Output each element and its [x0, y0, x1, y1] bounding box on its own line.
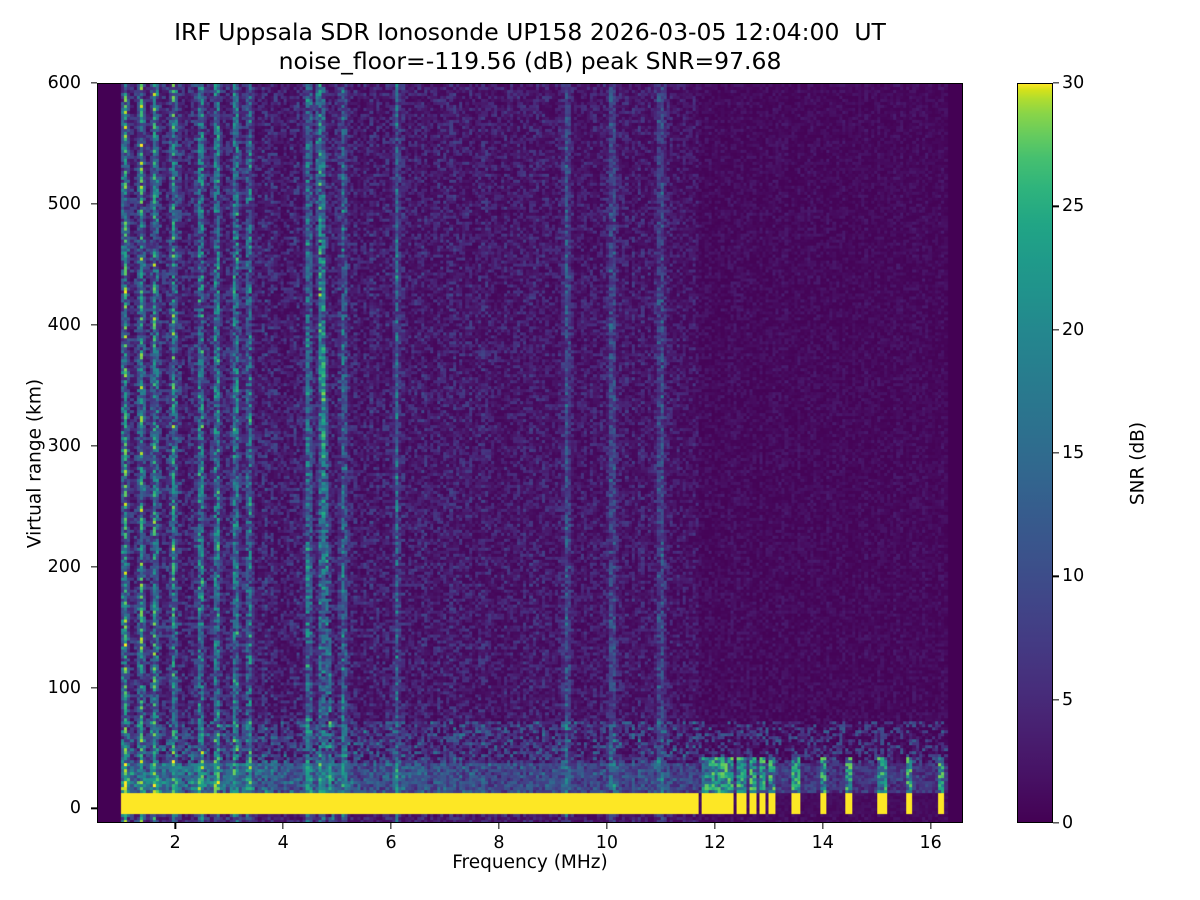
y-tick-mark: [91, 203, 97, 204]
x-tick-label: 2: [145, 833, 205, 853]
colorbar-tick-mark: [1053, 822, 1059, 823]
y-tick-mark: [91, 566, 97, 567]
x-tick-label: 8: [469, 833, 529, 853]
colorbar-tick-label: 30: [1062, 73, 1084, 93]
x-tick-mark: [390, 823, 391, 829]
y-tick-mark: [91, 808, 97, 809]
colorbar-tick-mark: [1053, 699, 1059, 700]
figure-title: IRF Uppsala SDR Ionosonde UP158 2026-03-…: [0, 18, 1060, 75]
colorbar-tick-mark: [1053, 206, 1059, 207]
snr-colorbar: [1017, 83, 1053, 823]
x-tick-label: 6: [361, 833, 421, 853]
colorbar-label: SNR (dB): [1128, 304, 1149, 624]
colorbar-tick-mark: [1053, 82, 1059, 83]
y-tick-mark: [91, 324, 97, 325]
x-tick-label: 10: [577, 833, 637, 853]
y-tick-label: 600: [1, 73, 81, 93]
x-tick-mark: [175, 823, 176, 829]
ionogram-plot-area: [97, 83, 963, 823]
y-tick-mark: [91, 687, 97, 688]
colorbar-tick-mark: [1053, 329, 1059, 330]
colorbar-tick-label: 25: [1062, 196, 1084, 216]
colorbar-tick-label: 10: [1062, 566, 1084, 586]
y-tick-mark: [91, 82, 97, 83]
colorbar-tick-mark: [1053, 452, 1059, 453]
colorbar-tick-label: 0: [1062, 813, 1073, 833]
colorbar-tick-label: 15: [1062, 443, 1084, 463]
y-tick-mark: [91, 445, 97, 446]
x-tick-mark: [498, 823, 499, 829]
x-axis-label: Frequency (MHz): [97, 852, 963, 873]
x-tick-label: 4: [253, 833, 313, 853]
x-tick-mark: [606, 823, 607, 829]
y-tick-label: 0: [1, 798, 81, 818]
ionogram-figure: IRF Uppsala SDR Ionosonde UP158 2026-03-…: [0, 0, 1200, 900]
x-tick-label: 14: [793, 833, 853, 853]
ionogram-heatmap-canvas: [98, 84, 962, 822]
x-tick-label: 12: [685, 833, 745, 853]
y-axis-label: Virtual range (km): [25, 154, 46, 774]
x-tick-mark: [714, 823, 715, 829]
title-line-2: noise_floor=-119.56 (dB) peak SNR=97.68: [0, 47, 1060, 76]
title-line-1: IRF Uppsala SDR Ionosonde UP158 2026-03-…: [0, 18, 1060, 47]
x-tick-mark: [822, 823, 823, 829]
x-tick-label: 16: [901, 833, 961, 853]
colorbar-tick-mark: [1053, 576, 1059, 577]
colorbar-tick-label: 5: [1062, 690, 1073, 710]
x-tick-mark: [282, 823, 283, 829]
colorbar-tick-label: 20: [1062, 320, 1084, 340]
x-tick-mark: [930, 823, 931, 829]
